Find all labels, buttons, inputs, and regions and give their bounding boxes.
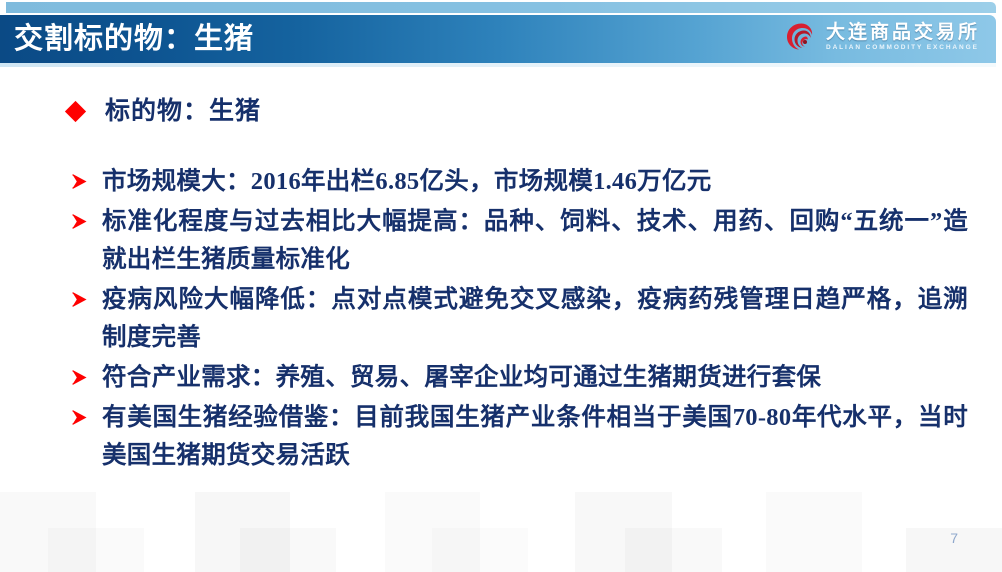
slide-content: 标的物：生猪 市场规模大：2016年出栏6.85亿头，市场规模1.46万亿元 标… [0, 95, 1002, 477]
list-item: 符合产业需求：养殖、贸易、屠宰企业均可通过生猪期货进行套保 [70, 359, 968, 397]
list-item-text: 标准化程度与过去相比大幅提高：品种、饲料、技术、用药、回购“五统一”造就出栏生猪… [102, 203, 968, 279]
list-item-text: 有美国生猪经验借鉴：目前我国生猪产业条件相当于美国70-80年代水平，当时美国生… [102, 399, 968, 475]
bullet-list: 市场规模大：2016年出栏6.85亿头，市场规模1.46万亿元 标准化程度与过去… [0, 163, 1002, 475]
list-item: 标准化程度与过去相比大幅提高：品种、饲料、技术、用药、回购“五统一”造就出栏生猪… [70, 203, 968, 279]
header-underline [0, 63, 996, 67]
list-item-text: 符合产业需求：养殖、贸易、屠宰企业均可通过生猪期货进行套保 [102, 359, 821, 397]
header-top-strip [6, 2, 996, 13]
arrow-bullet-icon [70, 409, 87, 426]
diamond-bullet-icon [65, 101, 86, 122]
page-title: 交割标的物：生猪 [14, 18, 254, 60]
logo-text-block: 大连商品交易所 DALIAN COMMODITY EXCHANGE [826, 23, 980, 52]
list-item: 有美国生猪经验借鉴：目前我国生猪产业条件相当于美国70-80年代水平，当时美国生… [70, 399, 968, 475]
arrow-bullet-icon [70, 291, 87, 308]
logo-name-cn: 大连商品交易所 [826, 23, 980, 42]
lead-bullet-row: 标的物：生猪 [0, 95, 1002, 129]
background-grid-texture [0, 492, 1002, 572]
lead-bullet-label: 标的物：生猪 [105, 95, 261, 129]
list-item: 疫病风险大幅降低：点对点模式避免交叉感染，疫病药残管理日趋严格，追溯制度完善 [70, 281, 968, 357]
dce-logo: 大连商品交易所 DALIAN COMMODITY EXCHANGE [785, 21, 980, 53]
arrow-bullet-icon [70, 213, 87, 230]
list-item: 市场规模大：2016年出栏6.85亿头，市场规模1.46万亿元 [70, 163, 968, 201]
page-number: 7 [950, 530, 958, 546]
slide-header: 交割标的物：生猪 大连商品交易所 DALIAN COMMODITY EXCHAN… [0, 0, 1002, 76]
arrow-bullet-icon [70, 173, 87, 190]
slide-canvas: 交割标的物：生猪 大连商品交易所 DALIAN COMMODITY EXCHAN… [0, 0, 1002, 572]
list-item-text: 疫病风险大幅降低：点对点模式避免交叉感染，疫病药残管理日趋严格，追溯制度完善 [102, 281, 968, 357]
dce-swirl-logo-icon [785, 21, 817, 53]
logo-name-en: DALIAN COMMODITY EXCHANGE [826, 45, 980, 52]
background-grid-texture-secondary [0, 528, 1002, 572]
arrow-bullet-icon [70, 369, 87, 386]
list-item-text: 市场规模大：2016年出栏6.85亿头，市场规模1.46万亿元 [102, 163, 712, 201]
